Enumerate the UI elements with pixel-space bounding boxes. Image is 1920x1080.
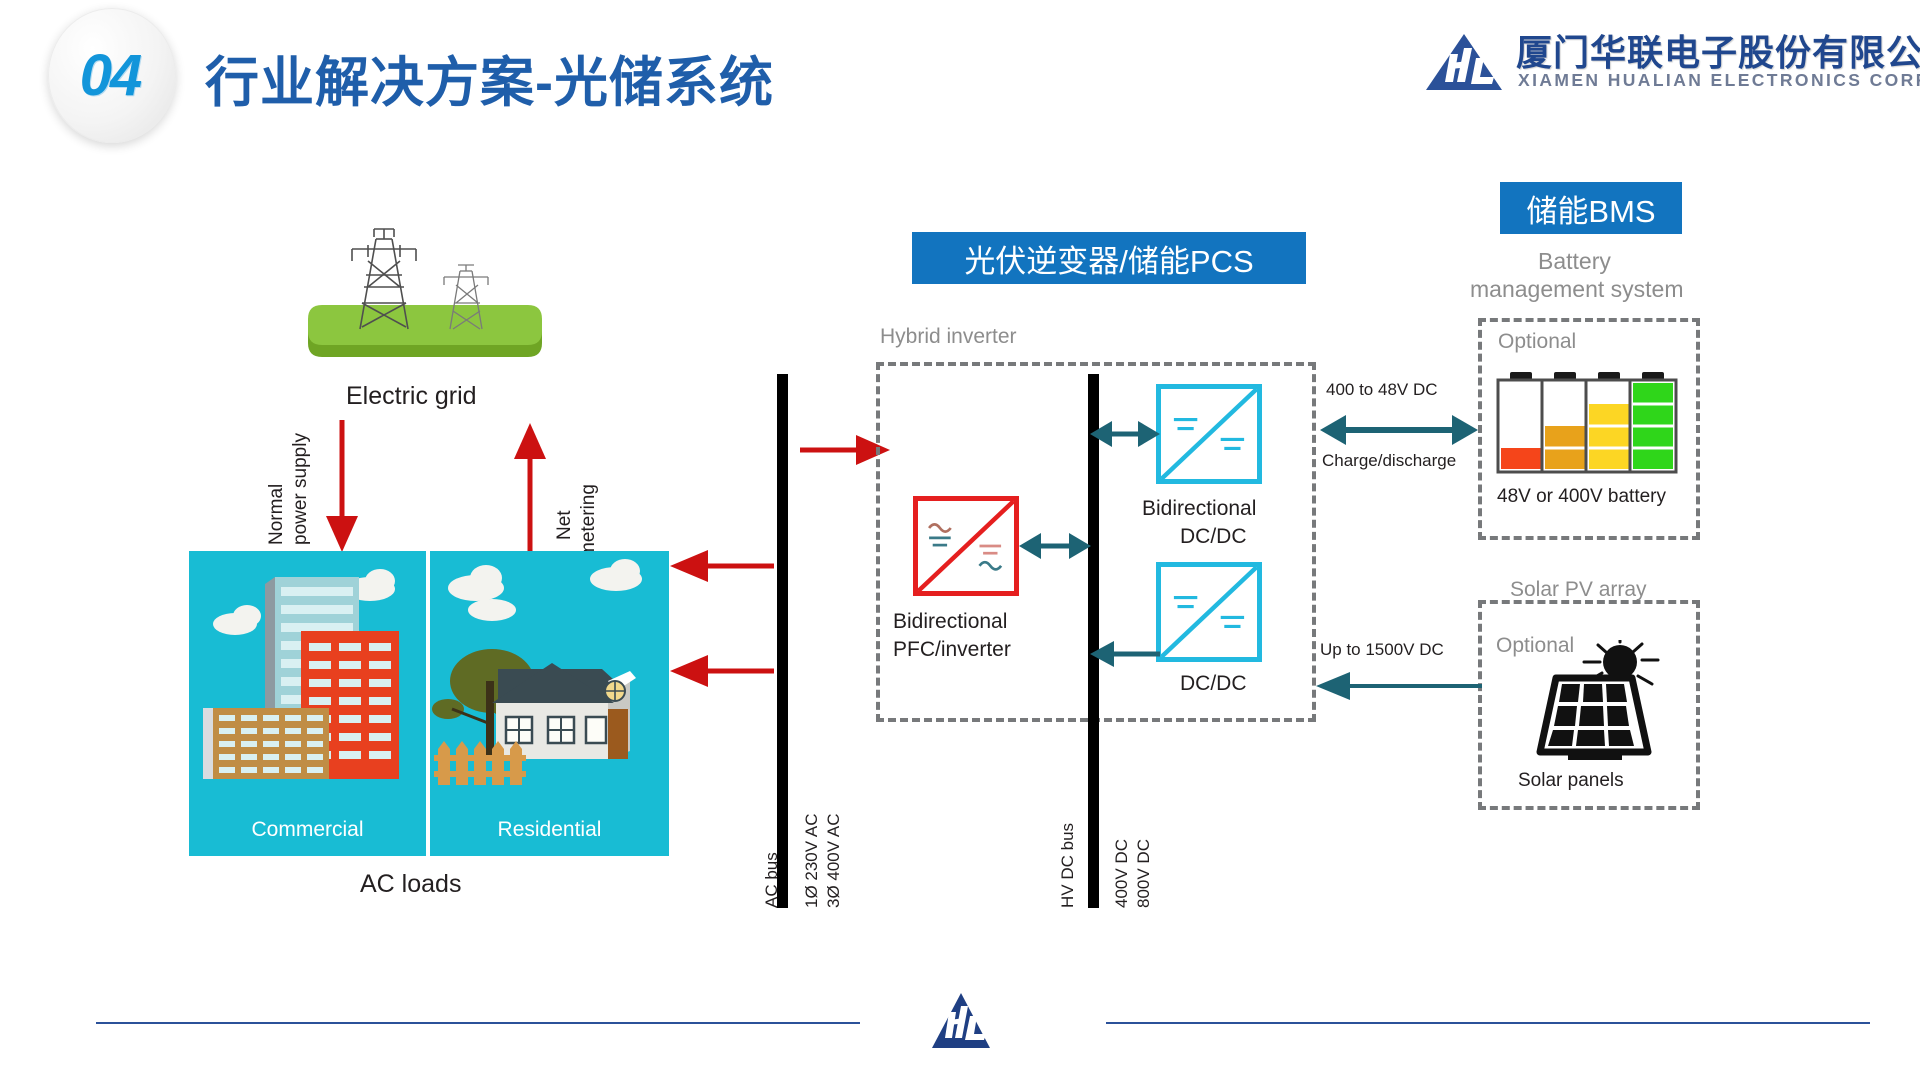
company-name-cn: 厦门华联电子股份有限公司	[1516, 24, 1920, 76]
section-number: 04	[80, 42, 141, 109]
arrow-pv-to-dcdc-icon	[1316, 670, 1482, 702]
charge-discharge-label: Charge/discharge	[1322, 451, 1456, 471]
tag-pv-inverter-label: 光伏逆变器/储能PCS	[964, 236, 1253, 281]
solar-pv-array-title: Solar PV array	[1510, 578, 1647, 602]
normal-power-supply-label-line2: power supply	[290, 433, 312, 545]
normal-power-supply-label-line1: Normal	[266, 484, 288, 545]
commercial-label: Commercial	[189, 818, 426, 842]
electric-grid-caption: Electric grid	[346, 382, 477, 411]
company-name-en: XIAMEN HUALIAN ELECTRONICS CORP., LTD.	[1518, 70, 1920, 91]
bms-title-line1: Battery	[1538, 248, 1611, 275]
ac-bus-label: AC bus	[762, 852, 782, 908]
net-metering-label-line1: Net	[554, 510, 576, 540]
battery-voltage-label: 48V or 400V battery	[1497, 486, 1666, 508]
arrow-ac-bus-to-loads-bottom-icon	[668, 653, 774, 689]
arrow-dcdc-to-dcbus-icon	[1090, 636, 1160, 672]
solar-panels-caption: Solar panels	[1518, 770, 1624, 792]
slide-root: 04 行业解决方案-光储系统 厦门华联电子股份有限公司 XIAMEN HUALI…	[0, 0, 1920, 1080]
slide-header: 04 行业解决方案-光储系统 厦门华联电子股份有限公司 XIAMEN HUALI…	[0, 0, 1920, 150]
page-title: 行业解决方案-光储系统	[205, 38, 774, 117]
bidirectional-dcdc-label-line2: DC/DC	[1180, 525, 1247, 549]
footer-line-right	[1106, 1022, 1870, 1024]
bms-title-line2: management system	[1470, 276, 1683, 303]
tag-bms-label: 储能BMS	[1526, 186, 1655, 231]
tag-bms: 储能BMS	[1500, 182, 1682, 234]
residential-house-icon	[430, 551, 669, 856]
hybrid-inverter-title: Hybrid inverter	[880, 325, 1017, 349]
hv-dc-bus-voltage-1: 400V DC	[1112, 839, 1132, 908]
footer-line-left	[96, 1022, 860, 1024]
bidirectional-dcdc-label-line1: Bidirectional	[1142, 497, 1256, 521]
residential-panel: Residential	[430, 551, 669, 856]
net-metering-label-line2: metering	[578, 484, 600, 558]
arrow-loads-to-grid-icon	[512, 420, 548, 555]
arrow-ac-bus-to-loads-top-icon	[668, 548, 774, 584]
dcdc-box	[1156, 562, 1262, 662]
ac-loads-caption: AC loads	[360, 870, 461, 899]
electric-grid-icon	[290, 215, 560, 375]
ac-bus-voltage-2: 3Ø 400V AC	[824, 813, 844, 908]
arrow-dcbus-to-bidir-dcdc-icon	[1090, 416, 1160, 452]
battery-levels-icon	[1492, 372, 1690, 474]
arrow-charge-discharge-icon	[1320, 412, 1478, 448]
hl-logo-mark-icon	[1424, 32, 1506, 94]
residential-label: Residential	[430, 818, 669, 842]
battery-link-voltage-label: 400 to 48V DC	[1326, 380, 1438, 400]
company-logo: 厦门华联电子股份有限公司 XIAMEN HUALIAN ELECTRONICS …	[1424, 22, 1894, 108]
pfc-inverter-label-line1: Bidirectional	[893, 610, 1007, 634]
arrow-pfc-to-dcbus-icon	[1019, 528, 1091, 564]
hv-dc-bus-label: HV DC bus	[1058, 823, 1078, 908]
hv-dc-bus-voltage-2: 800V DC	[1134, 839, 1154, 908]
bms-optional-label: Optional	[1498, 330, 1576, 354]
pfc-inverter-label-line2: PFC/inverter	[893, 638, 1011, 662]
arrow-grid-to-loads-icon	[324, 420, 360, 555]
ac-bus-line	[777, 374, 788, 908]
slide-footer	[0, 970, 1920, 1080]
commercial-panel: Commercial	[189, 551, 426, 856]
tag-pv-inverter: 光伏逆变器/储能PCS	[912, 232, 1306, 284]
ac-bus-voltage-1: 1Ø 230V AC	[802, 813, 822, 908]
solar-panel-icon	[1512, 640, 1668, 766]
ac-loads-illustration: Commercial	[189, 551, 669, 856]
bidirectional-pfc-inverter-box	[913, 496, 1019, 596]
section-number-badge: 04	[48, 8, 176, 143]
dcdc-label: DC/DC	[1180, 672, 1247, 696]
pv-link-voltage-label: Up to 1500V DC	[1320, 640, 1444, 660]
bidirectional-dcdc-box	[1156, 384, 1262, 484]
footer-hl-logo-icon	[930, 992, 992, 1050]
commercial-buildings-icon	[189, 551, 426, 856]
